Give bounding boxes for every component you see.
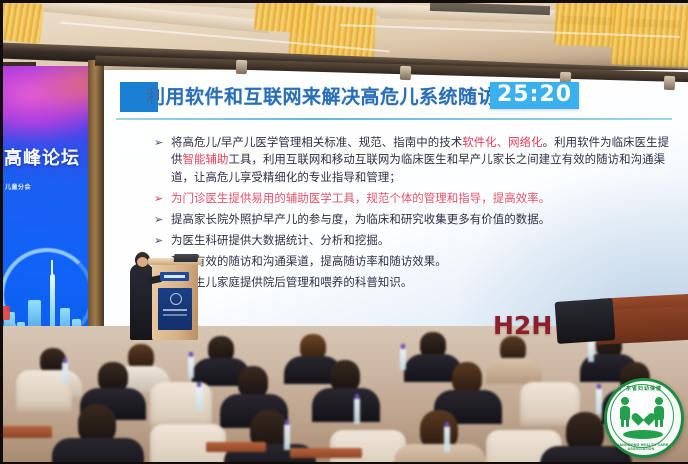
bullet-text: 为医生科研提供大数据统计、分析和挖掘。	[171, 232, 389, 249]
slide-bullet-item: ➢ 为门诊医生提供易用的辅助医学工具，规范个体的管理和指导，提高效率。	[154, 190, 674, 207]
podium-front-panel	[158, 288, 192, 330]
audience-table	[290, 448, 362, 458]
truss-clip	[236, 60, 247, 74]
audience-chair	[150, 382, 212, 428]
logo-figure-right	[653, 397, 665, 427]
bullet-marker: ➢	[154, 232, 171, 249]
slide-title-underline	[116, 118, 672, 120]
bullet-marker: ➢	[154, 134, 171, 151]
laptop-on-podium	[174, 254, 199, 262]
logo-bottom-text: GUANGDONG HEALTH CARE ASSOCIATION	[607, 443, 675, 451]
water-bottle	[596, 388, 602, 414]
audience-shoulders	[486, 358, 542, 384]
audience-shoulders	[52, 438, 144, 464]
audience-table	[206, 442, 266, 452]
water-bottle	[588, 340, 594, 362]
bullet-text: 为门诊医生提供易用的辅助医学工具，规范个体的管理和指导，提高效率。	[171, 190, 550, 207]
slide-bullet-list: ➢ 将高危儿/早产儿医学管理相关标准、规范、指南中的技术软件化、网络化。利用软件…	[154, 134, 674, 295]
audience-shoulders	[312, 388, 380, 422]
audience-table	[0, 426, 52, 438]
bullet-segment: 工具，利用互联网和移动互联网为临床医生和早产儿家长之间建立有效的随访和沟通渠道，…	[171, 152, 665, 183]
ceiling-gold-panel	[289, 4, 377, 60]
bullet-marker: ➢	[154, 211, 171, 228]
banner-title: 高峰论坛	[4, 144, 80, 170]
ceiling-gold-panel	[0, 0, 44, 44]
slide-bullet-item: ➢ 为新生儿家庭提供院后管理和喂养的科普知识。	[154, 274, 674, 291]
slide-bullet-item: ➢ 为医生科研提供大数据统计、分析和挖掘。	[154, 232, 674, 249]
speaker-person	[130, 264, 154, 340]
bullet-text: 建立有效的随访和沟通渠道，提高随访率和随访效果。	[171, 253, 447, 270]
bullet-text: 为新生儿家庭提供院后管理和喂养的科普知识。	[171, 274, 412, 291]
water-bottle	[196, 386, 202, 410]
truss-clip	[664, 76, 675, 90]
event-banner: 高峰论坛 儿童分会	[0, 66, 96, 358]
audience-blur-layer	[0, 326, 688, 464]
frame-edge	[0, 0, 3, 464]
truss-clip	[400, 66, 411, 80]
water-bottle	[444, 426, 450, 452]
water-bottle	[284, 424, 290, 450]
logo-figure-left	[619, 397, 631, 427]
water-bottle	[354, 398, 360, 424]
logo-top-text: 广东省妇幼保健	[607, 385, 675, 392]
frame-edge	[0, 0, 688, 3]
podium-nameplate	[160, 272, 189, 281]
slide-bullet-item: ➢ 提高家长院外照护早产儿的参与度，为临床和研究收集更多有价值的数据。	[154, 211, 674, 228]
speaker-face	[137, 257, 148, 267]
water-bottle	[62, 362, 68, 384]
banner-subtitle: 儿童分会	[5, 182, 31, 191]
stage-equipment	[555, 298, 616, 344]
association-logo: 广东省妇幼保健 GUANGDONG HEALTH CARE ASSOCIATIO…	[604, 378, 684, 458]
bullet-segment: 将高危儿/早产儿医学管理相关标准、规范、指南中的技术	[171, 135, 462, 149]
bullet-marker: ➢	[154, 190, 171, 207]
slide-bullet-item: ➢ 将高危儿/早产儿医学管理相关标准、规范、指南中的技术软件化、网络化。利用软件…	[154, 134, 674, 186]
water-bottle	[188, 356, 194, 378]
conference-photo: 高峰论坛 儿童分会 利用软件和互联网来解决高危儿系统随访难点	[0, 0, 688, 464]
bullet-segment-highlight: 智能辅助	[183, 152, 229, 166]
audience-shoulders	[394, 444, 486, 464]
slide-bullet-item: ➢ 建立有效的随访和沟通渠道，提高随访率和随访效果。	[154, 253, 674, 270]
bullet-text: 提高家长院外照护早产儿的参与度，为临床和研究收集更多有价值的数据。	[171, 211, 550, 228]
audience-area	[0, 326, 688, 464]
bullet-segment-highlight: 软件化、网络化	[462, 135, 542, 149]
slide-title: 利用软件和互联网来解决高危儿系统随访难点	[146, 82, 536, 109]
banner-gradient-glow	[30, 66, 96, 118]
logo-base-arc	[623, 430, 663, 439]
bullet-text: 将高危儿/早产儿医学管理相关标准、规范、指南中的技术软件化、网络化。利用软件为临…	[171, 134, 674, 186]
hall-pillar	[88, 60, 104, 360]
water-bottle	[400, 348, 406, 370]
h2h-watermark: H2H	[493, 311, 552, 340]
countdown-timer: 25:20	[490, 82, 579, 109]
heart-icon	[636, 408, 651, 422]
